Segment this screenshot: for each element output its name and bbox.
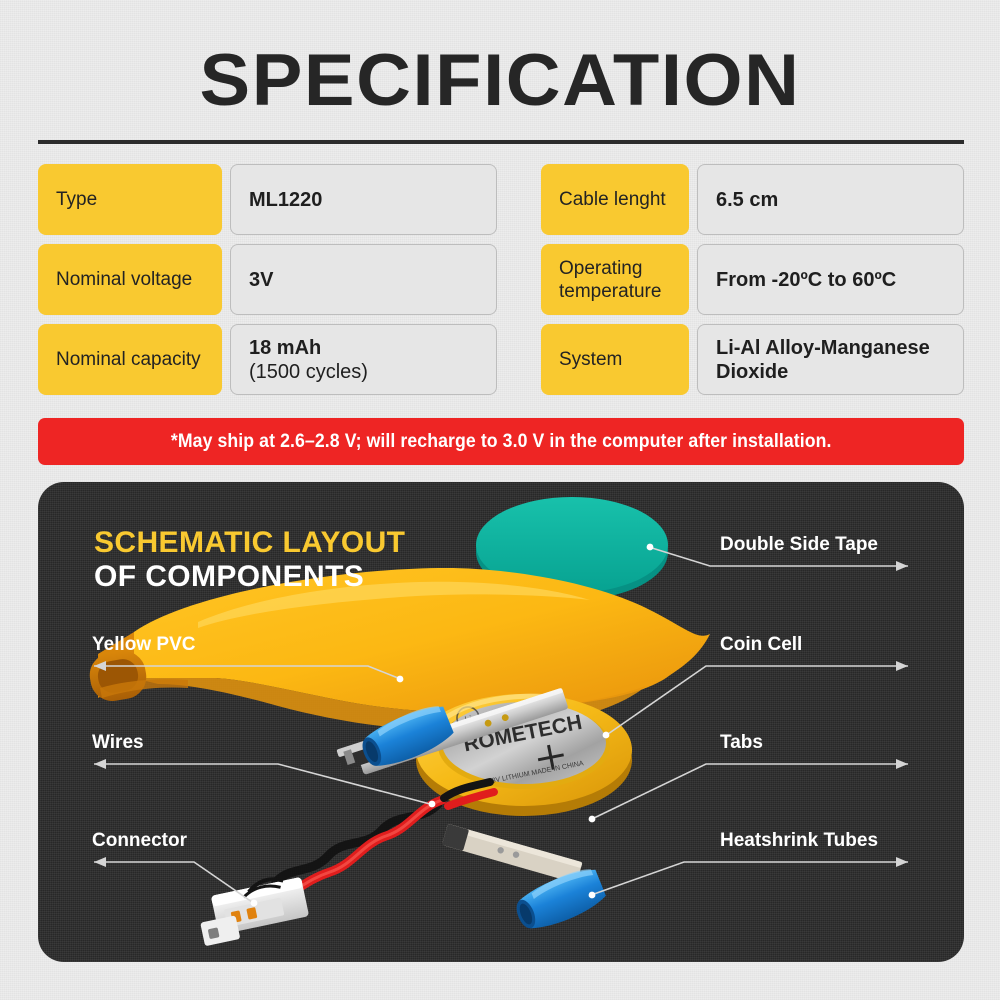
spec-value-nominal-capacity: 18 mAh (1500 cycles) [230, 324, 497, 395]
callout-label-wires: Wires [92, 732, 144, 754]
title-divider [38, 140, 964, 144]
spec-value-cable-length: 6.5 cm [697, 164, 964, 235]
callout-label-double-side-tape: Double Side Tape [720, 534, 878, 556]
spec-label-system: System [541, 324, 689, 395]
spec-label-nominal-voltage: Nominal voltage [38, 244, 222, 315]
schematic-heading: SCHEMATIC LAYOUT OF COMPONENTS [94, 526, 405, 594]
connector-art [194, 873, 310, 946]
schematic-heading-line1: SCHEMATIC LAYOUT [94, 526, 405, 560]
callout-label-coin-cell: Coin Cell [720, 634, 802, 656]
schematic-heading-line2: OF COMPONENTS [94, 560, 405, 594]
warning-banner: *May ship at 2.6–2.8 V; will recharge to… [38, 418, 964, 465]
spec-value-capacity-cycles: (1500 cycles) [249, 360, 368, 384]
spec-value-capacity-main: 18 mAh [249, 336, 368, 360]
callout-label-heatshrink-tubes: Heatshrink Tubes [720, 830, 878, 852]
spec-label-nominal-capacity: Nominal capacity [38, 324, 222, 395]
page-title: SPECIFICATION [0, 44, 1000, 117]
schematic-panel: SCHEMATIC LAYOUT OF COMPONENTS [38, 482, 964, 962]
spec-value-operating-temperature: From -20ºC to 60ºC [697, 244, 964, 315]
callout-label-tabs: Tabs [720, 732, 763, 754]
callout-label-connector: Connector [92, 830, 187, 852]
spec-value-nominal-voltage: 3V [230, 244, 497, 315]
warning-text: *May ship at 2.6–2.8 V; will recharge to… [171, 431, 832, 453]
specification-table: Type ML1220 Cable lenght 6.5 cm Nominal … [38, 164, 964, 395]
callout-label-yellow-pvc: Yellow PVC [92, 634, 195, 656]
spec-label-type: Type [38, 164, 222, 235]
spec-value-type: ML1220 [230, 164, 497, 235]
spec-label-cable-length: Cable lenght [541, 164, 689, 235]
spec-value-system: Li-Al Alloy-Manganese Dioxide [697, 324, 964, 395]
spec-label-operating-temperature: Operating temperature [541, 244, 689, 315]
